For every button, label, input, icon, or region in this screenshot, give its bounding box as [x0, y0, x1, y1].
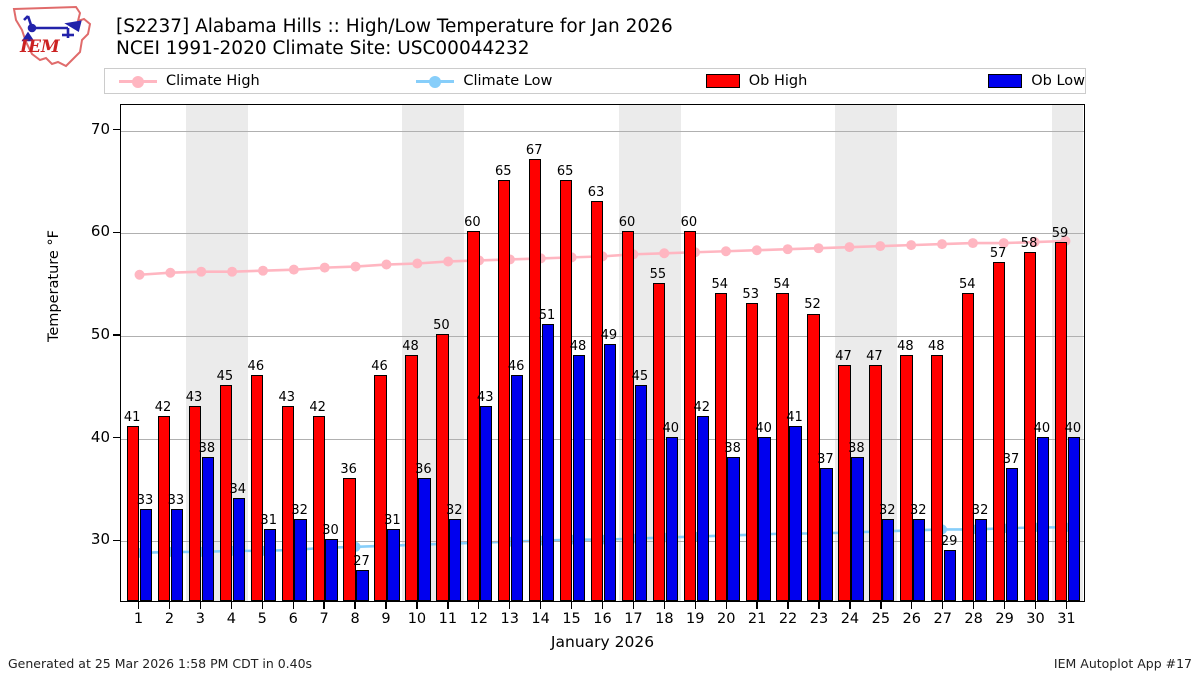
- x-axis-tick-mark: [787, 602, 788, 609]
- ob-low-value-label: 40: [663, 421, 680, 436]
- x-axis-tick-label: 18: [655, 611, 673, 627]
- climate-high-marker: [412, 259, 422, 269]
- climate-high-marker: [135, 270, 145, 280]
- ob-high-value-label: 48: [897, 339, 914, 354]
- ob-high-value-label: 58: [1021, 236, 1038, 251]
- x-axis-tick-label: 10: [408, 611, 426, 627]
- ob-low-bar: [480, 406, 492, 601]
- x-axis-tick-label: 6: [289, 611, 298, 627]
- ob-low-value-label: 32: [972, 503, 989, 518]
- ob-high-value-label: 65: [495, 164, 512, 179]
- color-swatch-icon: [988, 74, 1022, 88]
- ob-high-bar: [158, 416, 170, 601]
- x-axis-tick-label: 11: [439, 611, 457, 627]
- x-axis-tick-label: 3: [196, 611, 205, 627]
- y-axis-tick-mark: [113, 540, 120, 541]
- y-axis-tick-mark: [113, 129, 120, 130]
- climate-high-marker: [937, 239, 947, 249]
- ob-low-bar: [604, 344, 616, 601]
- x-axis-tick-mark: [633, 602, 634, 609]
- climate-high-marker: [814, 243, 824, 253]
- ob-low-bar: [1006, 468, 1018, 601]
- ob-low-bar: [202, 457, 214, 601]
- ob-low-value-label: 46: [508, 359, 525, 374]
- climate-high-marker: [659, 248, 669, 258]
- ob-low-bar: [140, 509, 152, 601]
- x-axis-tick-mark: [756, 602, 757, 609]
- legend-item-climate-low[interactable]: Climate Low: [416, 69, 705, 93]
- ob-low-bar: [233, 498, 245, 601]
- ob-low-bar: [171, 509, 183, 601]
- x-axis-tick-label: 28: [964, 611, 982, 627]
- ob-low-bar: [851, 457, 863, 601]
- legend-item-ob-high[interactable]: Ob High: [706, 69, 988, 93]
- ob-low-value-label: 30: [322, 523, 339, 538]
- ob-high-bar: [931, 355, 943, 601]
- ob-low-bar: [1068, 437, 1080, 601]
- ob-low-bar: [449, 519, 461, 601]
- svg-text:IEM: IEM: [19, 37, 61, 57]
- x-axis-tick-label: 14: [531, 611, 549, 627]
- ob-high-value-label: 52: [804, 297, 821, 312]
- climate-high-marker: [783, 244, 793, 254]
- ob-high-bar: [746, 303, 758, 601]
- ob-high-bar: [467, 231, 479, 601]
- x-axis-tick-label: 21: [748, 611, 766, 627]
- x-axis-tick-label: 7: [320, 611, 329, 627]
- ob-low-value-label: 45: [632, 369, 649, 384]
- x-axis-tick-mark: [1035, 602, 1036, 609]
- x-axis-tick-mark: [509, 602, 510, 609]
- ob-low-bar: [758, 437, 770, 601]
- x-axis-tick-mark: [664, 602, 665, 609]
- y-axis-tick-label: 60: [70, 222, 110, 240]
- x-axis-tick-label: 22: [779, 611, 797, 627]
- x-axis-tick-mark: [323, 602, 324, 609]
- x-axis-tick-mark: [169, 602, 170, 609]
- chart-title: [S2237] Alabama Hills :: High/Low Temper…: [116, 16, 1016, 38]
- ob-high-bar: [560, 180, 572, 601]
- x-axis-tick-label: 26: [903, 611, 921, 627]
- y-axis-label: Temperature °F: [46, 176, 62, 396]
- ob-low-value-label: 32: [446, 503, 463, 518]
- y-axis-tick-label: 30: [70, 530, 110, 548]
- ob-low-bar: [820, 468, 832, 601]
- ob-high-value-label: 57: [990, 246, 1007, 261]
- x-axis-tick-mark: [942, 602, 943, 609]
- ob-high-bar: [776, 293, 788, 601]
- chart-legend: Climate HighClimate LowOb HighOb Low: [104, 68, 1086, 94]
- ob-high-bar: [653, 283, 665, 601]
- ob-low-bar: [1037, 437, 1049, 601]
- x-axis-tick-mark: [293, 602, 294, 609]
- legend-label: Climate Low: [463, 73, 552, 89]
- ob-high-value-label: 41: [124, 410, 141, 425]
- ob-high-bar: [127, 426, 139, 601]
- x-axis-tick-mark: [880, 602, 881, 609]
- ob-high-value-label: 63: [588, 185, 605, 200]
- ob-low-value-label: 36: [415, 462, 432, 477]
- ob-high-bar: [869, 365, 881, 601]
- x-axis-tick-mark: [1004, 602, 1005, 609]
- climate-high-marker: [721, 246, 731, 256]
- ob-high-value-label: 42: [309, 400, 326, 415]
- ob-low-bar: [418, 478, 430, 601]
- ob-low-bar: [573, 355, 585, 601]
- ob-low-value-label: 32: [879, 503, 896, 518]
- line-marker-icon: [119, 74, 157, 88]
- climate-high-marker: [875, 241, 885, 251]
- ob-high-bar: [405, 355, 417, 601]
- x-axis-label: January 2026: [120, 633, 1085, 651]
- legend-item-climate-high[interactable]: Climate High: [119, 69, 416, 93]
- climate-high-marker: [258, 266, 268, 276]
- ob-high-value-label: 42: [155, 400, 172, 415]
- ob-high-bar: [838, 365, 850, 601]
- x-axis-tick-mark: [540, 602, 541, 609]
- ob-low-bar: [697, 416, 709, 601]
- x-axis-tick-label: 17: [624, 611, 642, 627]
- ob-high-bar: [591, 201, 603, 601]
- x-axis-tick-label: 15: [562, 611, 580, 627]
- climate-high-marker: [844, 242, 854, 252]
- x-axis-tick-label: 13: [500, 611, 518, 627]
- x-axis-tick-mark: [354, 602, 355, 609]
- x-axis-tick-mark: [447, 602, 448, 609]
- page-title: [S2237] Alabama Hills :: High/Low Temper…: [116, 16, 1016, 60]
- ob-low-value-label: 42: [693, 400, 710, 415]
- x-axis-tick-label: 8: [350, 611, 359, 627]
- autoplot-chart-page: IEM [S2237] Alabama Hills :: High/Low Te…: [0, 0, 1200, 675]
- x-axis-tick-mark: [200, 602, 201, 609]
- ob-low-value-label: 38: [199, 441, 216, 456]
- climate-high-marker: [381, 260, 391, 270]
- iem-logo: IEM: [6, 4, 106, 70]
- x-axis-tick-mark: [1066, 602, 1067, 609]
- ob-low-bar: [789, 426, 801, 601]
- ob-low-value-label: 41: [786, 410, 803, 425]
- x-axis-tick-mark: [138, 602, 139, 609]
- ob-low-bar: [542, 324, 554, 601]
- ob-low-value-label: 29: [941, 534, 958, 549]
- x-axis-tick-mark: [478, 602, 479, 609]
- x-axis-tick-label: 16: [593, 611, 611, 627]
- ob-low-bar: [325, 539, 337, 601]
- footer-generated-text: Generated at 25 Mar 2026 1:58 PM CDT in …: [8, 656, 312, 671]
- ob-low-value-label: 27: [353, 554, 370, 569]
- x-axis-tick-label: 9: [381, 611, 390, 627]
- ob-low-bar: [913, 519, 925, 601]
- line-marker-icon: [416, 74, 454, 88]
- ob-low-bar: [727, 457, 739, 601]
- ob-high-value-label: 54: [959, 277, 976, 292]
- ob-high-value-label: 60: [681, 215, 698, 230]
- ob-low-value-label: 32: [291, 503, 308, 518]
- x-axis-tick-label: 31: [1057, 611, 1075, 627]
- x-axis-tick-label: 24: [841, 611, 859, 627]
- climate-high-marker: [351, 262, 361, 272]
- x-axis-tick-label: 4: [227, 611, 236, 627]
- legend-label: Ob Low: [1031, 73, 1085, 89]
- climate-high-marker: [906, 240, 916, 250]
- ob-high-value-label: 59: [1052, 226, 1069, 241]
- x-axis-tick-mark: [231, 602, 232, 609]
- y-axis-tick-label: 70: [70, 120, 110, 138]
- ob-high-bar: [993, 262, 1005, 601]
- ob-high-value-label: 60: [619, 215, 636, 230]
- x-axis-tick-mark: [849, 602, 850, 609]
- ob-high-value-label: 48: [402, 339, 419, 354]
- x-axis-tick-label: 20: [717, 611, 735, 627]
- ob-low-bar: [635, 385, 647, 601]
- x-axis-tick-mark: [416, 602, 417, 609]
- ob-high-value-label: 43: [186, 390, 203, 405]
- x-axis-tick-label: 1: [134, 611, 143, 627]
- x-axis-tick-mark: [571, 602, 572, 609]
- x-axis-tick-mark: [602, 602, 603, 609]
- climate-high-marker: [196, 267, 206, 277]
- chart-subtitle: NCEI 1991-2020 Climate Site: USC00044232: [116, 38, 1016, 60]
- ob-low-value-label: 37: [1003, 452, 1020, 467]
- color-swatch-icon: [706, 74, 740, 88]
- climate-high-marker: [165, 268, 175, 278]
- x-axis-tick-mark: [973, 602, 974, 609]
- x-axis-tick-mark: [385, 602, 386, 609]
- x-axis-tick-label: 19: [686, 611, 704, 627]
- y-axis-tick-label: 40: [70, 428, 110, 446]
- ob-high-value-label: 54: [773, 277, 790, 292]
- ob-high-bar: [343, 478, 355, 601]
- x-axis-tick-mark: [262, 602, 263, 609]
- ob-low-value-label: 48: [570, 339, 587, 354]
- ob-low-value-label: 51: [539, 308, 556, 323]
- climate-high-marker: [227, 267, 237, 277]
- ob-high-value-label: 45: [217, 369, 234, 384]
- iem-logo-icon: IEM: [6, 4, 106, 70]
- ob-low-bar: [511, 375, 523, 601]
- ob-low-value-label: 40: [1065, 421, 1082, 436]
- ob-low-bar: [294, 519, 306, 601]
- ob-high-value-label: 46: [248, 359, 265, 374]
- ob-low-value-label: 31: [260, 513, 277, 528]
- ob-low-bar: [944, 550, 956, 601]
- ob-low-value-label: 33: [168, 493, 185, 508]
- climate-high-marker: [968, 238, 978, 248]
- ob-low-value-label: 49: [601, 328, 618, 343]
- ob-low-value-label: 31: [384, 513, 401, 528]
- ob-low-bar: [356, 570, 368, 601]
- ob-low-value-label: 34: [229, 482, 246, 497]
- ob-low-value-label: 38: [848, 441, 865, 456]
- ob-high-value-label: 60: [464, 215, 481, 230]
- climate-high-marker: [443, 256, 453, 266]
- ob-high-value-label: 46: [371, 359, 388, 374]
- climate-high-marker: [752, 245, 762, 255]
- x-axis-tick-mark: [818, 602, 819, 609]
- ob-low-bar: [882, 519, 894, 601]
- ob-high-value-label: 47: [866, 349, 883, 364]
- ob-high-bar: [313, 416, 325, 601]
- x-axis-tick-label: 25: [872, 611, 890, 627]
- ob-high-value-label: 48: [928, 339, 945, 354]
- ob-high-value-label: 36: [340, 462, 357, 477]
- ob-high-value-label: 65: [557, 164, 574, 179]
- climate-high-marker: [320, 263, 330, 273]
- y-axis-tick-mark: [113, 334, 120, 335]
- x-axis-tick-mark: [726, 602, 727, 609]
- ob-high-bar: [251, 375, 263, 601]
- ob-high-bar: [622, 231, 634, 601]
- y-axis-tick-label: 50: [70, 325, 110, 343]
- ob-low-bar: [975, 519, 987, 601]
- ob-low-value-label: 32: [910, 503, 927, 518]
- ob-low-value-label: 38: [724, 441, 741, 456]
- ob-high-value-label: 67: [526, 143, 543, 158]
- x-axis-tick-label: 30: [1026, 611, 1044, 627]
- x-axis-tick-mark: [695, 602, 696, 609]
- ob-high-bar: [684, 231, 696, 601]
- x-axis-tick-label: 27: [933, 611, 951, 627]
- gridline: [121, 131, 1084, 132]
- legend-label: Ob High: [749, 73, 808, 89]
- y-axis-tick-mark: [113, 232, 120, 233]
- x-axis-tick-label: 29: [995, 611, 1013, 627]
- y-axis-tick-mark: [113, 437, 120, 438]
- ob-low-value-label: 40: [1034, 421, 1051, 436]
- ob-high-value-label: 43: [278, 390, 295, 405]
- ob-low-bar: [387, 529, 399, 601]
- legend-item-ob-low[interactable]: Ob Low: [988, 69, 1085, 93]
- ob-high-bar: [436, 334, 448, 601]
- x-axis-tick-label: 5: [258, 611, 267, 627]
- ob-low-value-label: 40: [755, 421, 772, 436]
- ob-high-value-label: 50: [433, 318, 450, 333]
- x-axis-tick-label: 12: [470, 611, 488, 627]
- climate-high-marker: [289, 265, 299, 275]
- ob-high-value-label: 55: [650, 267, 667, 282]
- ob-low-value-label: 37: [817, 452, 834, 467]
- ob-high-bar: [529, 159, 541, 601]
- ob-high-bar: [374, 375, 386, 601]
- x-axis-tick-mark: [911, 602, 912, 609]
- footer-app-text: IEM Autoplot App #17: [1054, 656, 1192, 671]
- ob-low-value-label: 43: [477, 390, 494, 405]
- ob-low-bar: [264, 529, 276, 601]
- ob-high-value-label: 53: [742, 287, 759, 302]
- ob-high-bar: [962, 293, 974, 601]
- ob-high-bar: [189, 406, 201, 601]
- ob-high-value-label: 47: [835, 349, 852, 364]
- ob-high-bar: [498, 180, 510, 601]
- ob-high-bar: [900, 355, 912, 601]
- ob-high-value-label: 54: [712, 277, 729, 292]
- x-axis-tick-label: 2: [165, 611, 174, 627]
- ob-low-value-label: 33: [137, 493, 154, 508]
- x-axis-tick-label: 23: [810, 611, 828, 627]
- ob-low-bar: [666, 437, 678, 601]
- legend-label: Climate High: [166, 73, 260, 89]
